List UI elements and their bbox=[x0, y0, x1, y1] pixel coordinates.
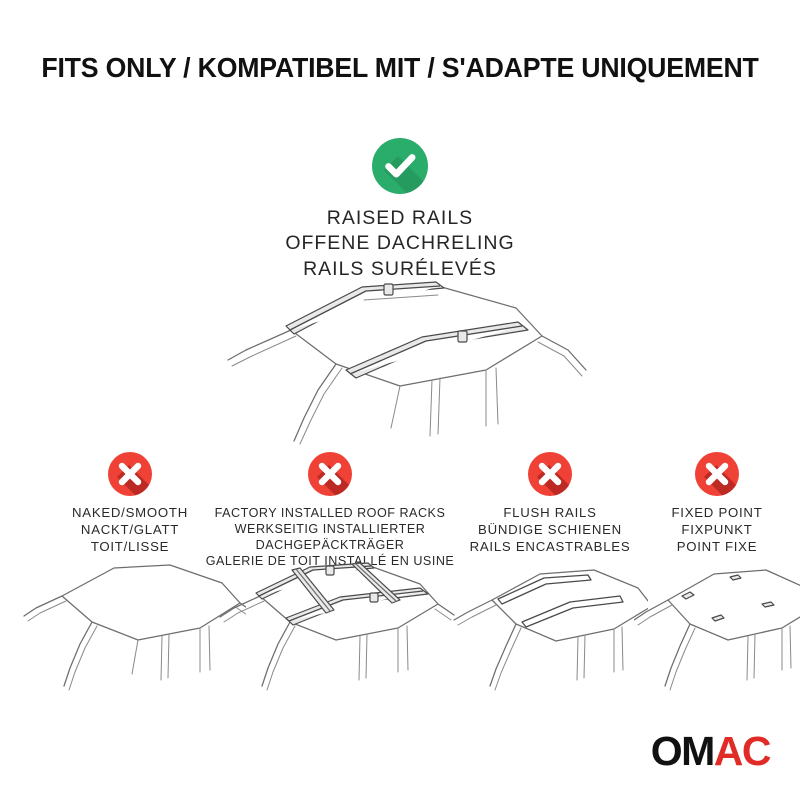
incompatible-label-line-1: FIXED POINT bbox=[634, 505, 800, 522]
x-circle-icon bbox=[528, 452, 572, 496]
x-mark-glyph bbox=[695, 452, 739, 496]
page-title: FITS ONLY / KOMPATIBEL MIT / S'ADAPTE UN… bbox=[12, 52, 788, 84]
incompatible-item-fixed-point: FIXED POINT FIXPUNKT POINT FIXE bbox=[634, 452, 800, 556]
x-mark-glyph bbox=[108, 452, 152, 496]
incompatible-label-line-1: FLUSH RAILS bbox=[452, 505, 648, 522]
x-mark-glyph bbox=[308, 452, 352, 496]
x-circle-icon bbox=[308, 452, 352, 496]
x-circle-icon bbox=[108, 452, 152, 496]
car-roof-fixed-points-illustration bbox=[634, 556, 800, 692]
compatible-labels: RAISED RAILS OFFENE DACHRELING RAILS SUR… bbox=[0, 206, 800, 282]
incompatible-item-factory-roof-racks: FACTORY INSTALLED ROOF RACKS WERKSEITIG … bbox=[204, 452, 456, 569]
car-roof-with-crossbars-illustration bbox=[204, 548, 456, 696]
x-circle-icon bbox=[695, 452, 739, 496]
incompatible-label-line-2: WERKSEITIG INSTALLIERTER bbox=[204, 521, 456, 537]
incompatible-labels: FIXED POINT FIXPUNKT POINT FIXE bbox=[634, 505, 800, 556]
compatible-label-en: RAISED RAILS bbox=[0, 206, 800, 231]
incompatible-label-line-2: BÜNDIGE SCHIENEN bbox=[452, 522, 648, 539]
incompatible-labels: FLUSH RAILS BÜNDIGE SCHIENEN RAILS ENCAS… bbox=[452, 505, 648, 556]
check-mark-glyph bbox=[372, 138, 428, 194]
incompatible-label-line-2: FIXPUNKT bbox=[634, 522, 800, 539]
compatible-section: RAISED RAILS OFFENE DACHRELING RAILS SUR… bbox=[0, 138, 800, 282]
logo-text-ac: AC bbox=[714, 728, 770, 774]
incompatible-item-flush-rails: FLUSH RAILS BÜNDIGE SCHIENEN RAILS ENCAS… bbox=[452, 452, 648, 556]
omac-logo: OMAC bbox=[651, 731, 770, 772]
incompatible-label-line-3: RAILS ENCASTRABLES bbox=[452, 539, 648, 556]
compatible-label-de: OFFENE DACHRELING bbox=[0, 231, 800, 256]
car-roof-raised-rails-illustration bbox=[186, 278, 616, 453]
car-roof-flush-rails-illustration bbox=[452, 556, 648, 692]
logo-text-om: OM bbox=[651, 728, 714, 774]
incompatible-label-line-3: POINT FIXE bbox=[634, 539, 800, 556]
incompatible-label-line-1: FACTORY INSTALLED ROOF RACKS bbox=[204, 505, 456, 521]
x-mark-glyph bbox=[528, 452, 572, 496]
check-circle-icon bbox=[372, 138, 428, 194]
